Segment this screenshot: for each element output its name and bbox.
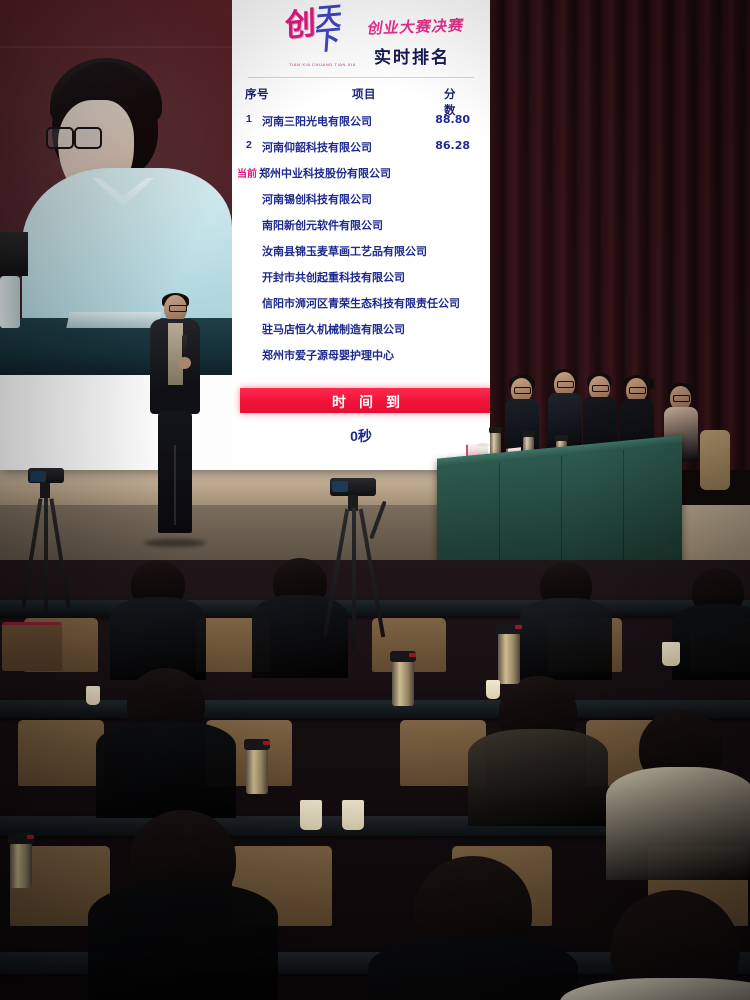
row-project-name: 南阳新创元软件有限公司 <box>262 217 383 233</box>
audience-member <box>96 668 236 818</box>
time-up-banner: 时间到 <box>240 388 490 413</box>
paper-cup <box>662 642 680 666</box>
audience-member <box>110 560 206 680</box>
tripod-head <box>40 482 50 498</box>
judge-glasses-icon <box>629 387 646 394</box>
time-up-banner-label: 时间到 <box>240 392 490 412</box>
feed-glasses-icon <box>46 127 104 147</box>
tripod-pan-handle <box>369 501 386 540</box>
slide-title-primary: 创业大赛决赛 <box>366 14 466 38</box>
table-row: 当前郑州中业科技股份有限公司 <box>232 165 490 191</box>
projection-screen: 创 天下 TIAN XIA CHUANG TIAN XIA 创业大赛决赛 实时排… <box>0 0 490 470</box>
presenter-with-microphone <box>142 295 206 550</box>
paper-cup <box>86 686 100 705</box>
presenter-leg-gap <box>174 445 176 525</box>
thermos-flask <box>498 632 520 684</box>
audience-shoulders <box>672 604 750 680</box>
table-row: 汝南县锦玉麦草画工艺品有限公司 <box>232 243 490 269</box>
audience-member <box>606 710 750 880</box>
auditorium-seat <box>18 720 104 786</box>
camera-lens-icon <box>30 471 46 482</box>
audience-shoulders <box>468 729 608 826</box>
table-header-row: 序号 项目 分数 <box>232 86 490 108</box>
tripod-leg <box>352 508 356 650</box>
table-row: 2河南仰韶科技有限公司86.28 <box>232 139 490 165</box>
audience-member <box>368 856 578 1000</box>
row-score: 88.80 <box>435 113 470 126</box>
video-camera-on-tripod <box>28 468 88 608</box>
logo-pinyin: TIAN XIA CHUANG TIAN XIA <box>289 62 356 67</box>
header-divider <box>248 77 474 78</box>
tripod-leg <box>44 498 48 616</box>
row-project-name: 郑州中业科技股份有限公司 <box>259 165 391 181</box>
tripod-leg <box>49 498 70 607</box>
feed-seam <box>0 46 232 48</box>
thermos-flask <box>10 842 32 888</box>
ranking-slide: 创 天下 TIAN XIA CHUANG TIAN XIA 创业大赛决赛 实时排… <box>232 0 490 470</box>
audience-member <box>672 568 750 680</box>
presenter-shirt <box>168 323 183 385</box>
logo-mark-main: 创 <box>285 8 314 42</box>
judge-glasses-icon <box>592 385 609 392</box>
thermos-flask <box>392 660 414 706</box>
column-header-project: 项目 <box>352 86 376 102</box>
audience-shoulders <box>96 721 236 818</box>
judge-glasses-icon <box>557 381 574 388</box>
audience-shoulders <box>520 598 612 680</box>
paper-cup <box>300 800 322 830</box>
row-project-name: 驻马店恒久机械制造有限公司 <box>262 321 405 337</box>
conference-hall-photo: 创 天下 TIAN XIA CHUANG TIAN XIA 创业大赛决赛 实时排… <box>0 0 750 1000</box>
table-row: 信阳市浉河区青荣生态科技有限责任公司 <box>232 295 490 321</box>
audience-shoulders <box>88 883 278 1000</box>
row-project-name: 信阳市浉河区青荣生态科技有限责任公司 <box>262 295 460 311</box>
presenter-glasses-icon <box>169 305 187 312</box>
table-row: 南阳新创元软件有限公司 <box>232 217 490 243</box>
table-row: 河南锡创科技有限公司 <box>232 191 490 217</box>
table-row: 郑州市爱子源母婴护理中心 <box>232 347 490 373</box>
row-project-name: 郑州市爱子源母婴护理中心 <box>262 347 394 363</box>
feed-box <box>0 232 28 276</box>
row-score: 86.28 <box>435 139 470 152</box>
countdown-value: 0秒 <box>232 426 490 446</box>
row-project-name: 开封市共创起重科技有限公司 <box>262 269 405 285</box>
presenter-hand <box>178 357 191 369</box>
judge-glasses-icon <box>514 387 531 394</box>
row-project-name: 河南三阳光电有限公司 <box>262 113 372 129</box>
audience-member <box>88 810 278 1000</box>
table-row: 开封市共创起重科技有限公司 <box>232 269 490 295</box>
audience-shoulders <box>560 978 750 1000</box>
audience-shoulders <box>368 937 578 1000</box>
handbag <box>2 622 62 671</box>
judge-glasses-icon <box>673 395 690 402</box>
row-project-name: 汝南县锦玉麦草画工艺品有限公司 <box>262 243 427 259</box>
audience-member <box>520 562 612 680</box>
current-entry-marker: 当前 <box>237 165 257 180</box>
chair <box>700 430 730 490</box>
audience-member <box>560 890 750 1000</box>
paper-cup <box>342 800 364 830</box>
slide-title-secondary: 实时排名 <box>374 43 450 68</box>
row-project-name: 河南仰韶科技有限公司 <box>262 139 372 155</box>
camera-body <box>330 478 376 496</box>
video-camera-on-tripod <box>330 478 410 643</box>
row-rank: 1 <box>246 113 252 125</box>
feed-water-bottle <box>0 276 20 328</box>
audience-shoulders <box>606 767 750 880</box>
paper-cup <box>486 680 500 699</box>
thermos-flask <box>246 748 268 794</box>
camera-lens-icon <box>332 481 348 492</box>
camera-body <box>28 468 64 483</box>
row-rank: 2 <box>246 139 252 151</box>
event-logo: 创 天下 TIAN XIA CHUANG TIAN XIA <box>285 6 361 72</box>
table-row: 驻马店恒久机械制造有限公司 <box>232 321 490 347</box>
table-row: 1河南三阳光电有限公司88.80 <box>232 113 490 139</box>
presenter-shadow <box>144 539 206 547</box>
row-project-name: 河南锡创科技有限公司 <box>262 191 372 207</box>
column-header-rank: 序号 <box>245 86 269 102</box>
logo-mark-sub: 天下 <box>313 4 362 54</box>
